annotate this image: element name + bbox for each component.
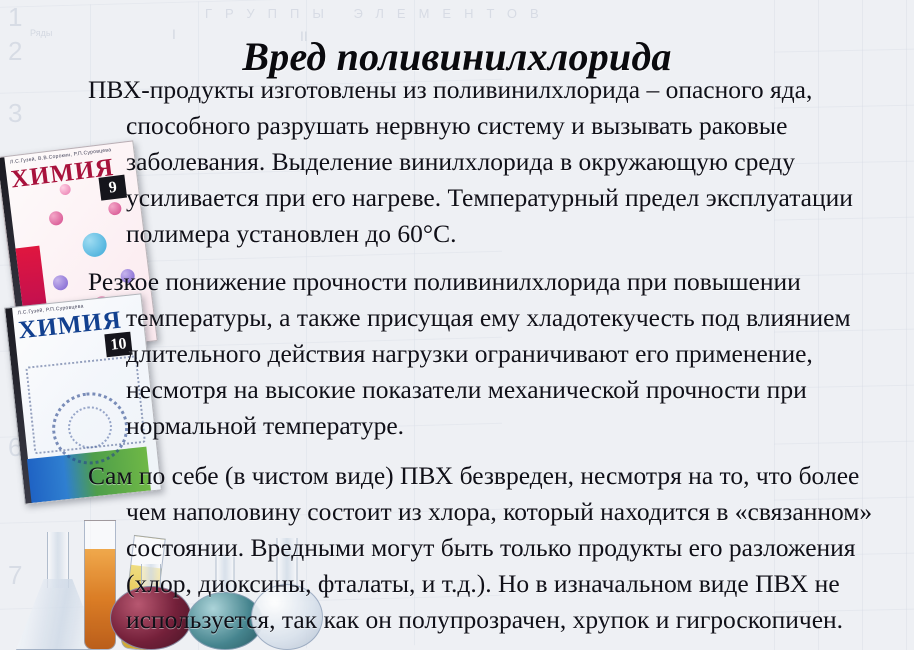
- watermark-period-7: 7: [8, 560, 22, 591]
- watermark-period-1: 1: [8, 2, 22, 33]
- presentation-slide: ГРУППЫ ЭЛЕМЕНТОВ Ряды I II 1 2 3 4 5 6 7…: [0, 0, 914, 650]
- watermark-period-3: 3: [8, 98, 22, 129]
- slide-body: ПВХ-продукты изготовлены из поливинилхло…: [88, 72, 894, 638]
- body-paragraph-1: ПВХ-продукты изготовлены из поливинилхло…: [88, 72, 894, 252]
- watermark-heading: ГРУППЫ ЭЛЕМЕНТОВ: [205, 6, 552, 21]
- body-paragraph-3: Сам по себе (в чистом виде) ПВХ безвреде…: [88, 458, 894, 638]
- body-paragraph-2: Резкое понижение прочности поливинилхлор…: [88, 264, 894, 444]
